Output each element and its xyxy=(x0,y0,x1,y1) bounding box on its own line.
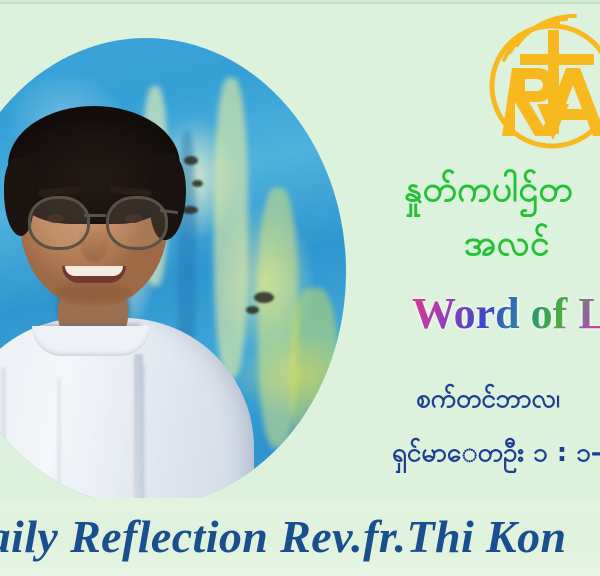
teeth xyxy=(65,266,123,276)
nose xyxy=(80,228,108,262)
backdrop-streak xyxy=(214,78,248,378)
banner-title: Daily Reflection Rev.fr.Thi Kon xyxy=(0,506,600,568)
rta-logo-icon xyxy=(482,8,600,158)
backdrop-speck xyxy=(192,180,203,187)
eyeglasses-lens-right xyxy=(106,196,168,250)
backdrop-speck xyxy=(254,292,274,303)
chin-shadow xyxy=(54,284,134,302)
headline-line-1: နှုတ်ကပါဌ်တ xyxy=(404,168,573,212)
mouth xyxy=(62,266,126,283)
shirt-fold xyxy=(2,368,5,506)
portrait-circle xyxy=(0,38,346,506)
backdrop-speck xyxy=(246,306,259,314)
word-of-life-title: Word of Li xyxy=(412,288,600,340)
eyeglasses-bridge xyxy=(84,214,106,217)
clerical-collar xyxy=(32,326,150,356)
scripture-date: စက်တင်ဘာလ၊ xyxy=(416,382,560,416)
scripture-reference: ရှင်မာေတဦး ၁ : ၁– xyxy=(392,436,600,470)
shirt-fold xyxy=(58,378,60,506)
backdrop-streak xyxy=(290,288,338,458)
poster-canvas: နှုတ်ကပါဌ်တ အလင် Word of Li စက်တင်ဘာလ၊ ရ… xyxy=(0,0,600,576)
backdrop-speck xyxy=(184,156,198,165)
top-rule xyxy=(0,2,600,4)
headline-line-2: အလင် xyxy=(464,222,550,266)
shirt-placket xyxy=(134,354,143,506)
bottom-banner: Daily Reflection Rev.fr.Thi Kon xyxy=(0,498,600,576)
